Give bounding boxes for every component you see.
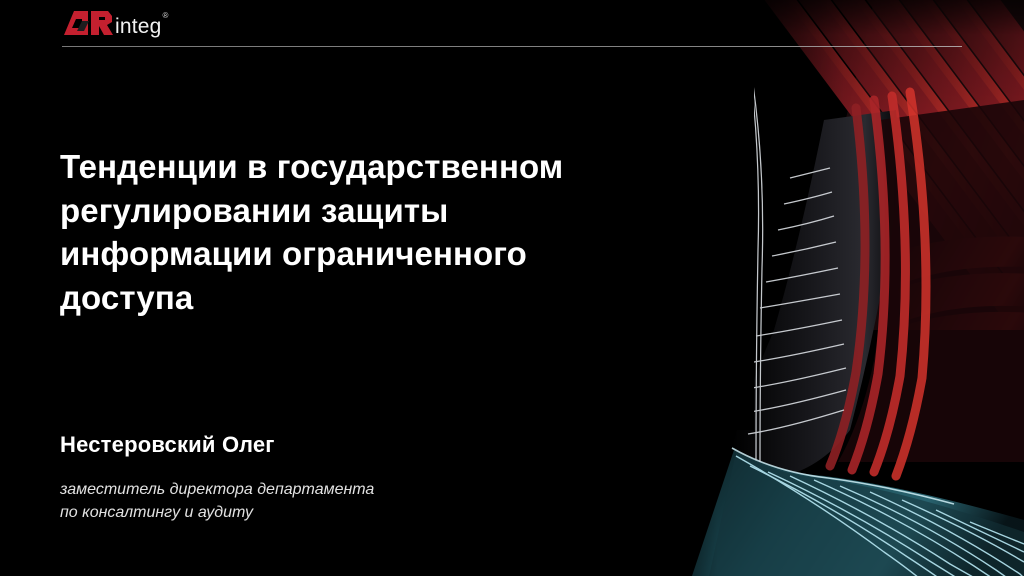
speaker-name: Нестеровский Олег bbox=[60, 432, 275, 458]
presentation-slide: integ® Тенденции в государственном регул… bbox=[0, 0, 1024, 576]
arinteg-logo: integ® bbox=[62, 8, 962, 42]
logo-trademark-symbol: ® bbox=[163, 11, 169, 20]
page-title: Тенденции в государственном регулировани… bbox=[60, 145, 700, 319]
logo-wordmark: integ® bbox=[115, 16, 168, 37]
header-divider bbox=[62, 46, 962, 47]
ar-logo-mark-icon bbox=[62, 9, 114, 42]
logo-word-text: integ bbox=[115, 15, 162, 38]
speaker-role: заместитель директора департамента по ко… bbox=[60, 478, 490, 524]
